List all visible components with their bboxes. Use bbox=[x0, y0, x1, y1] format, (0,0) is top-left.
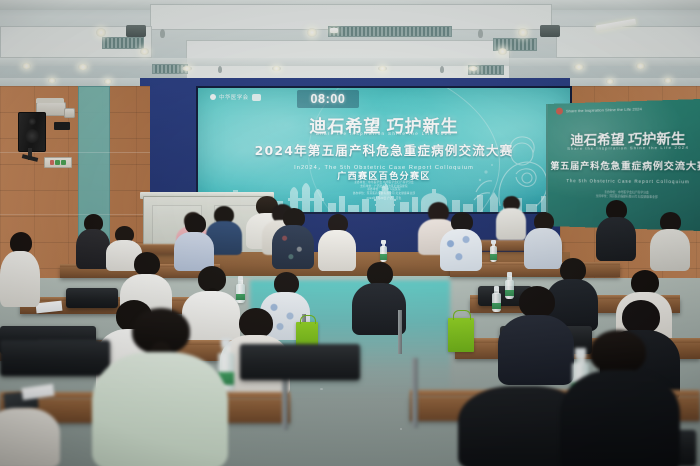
emergency-exit-sign bbox=[44, 157, 72, 168]
downlight bbox=[574, 64, 584, 70]
clock-time: 08:00 bbox=[311, 92, 346, 106]
attendee bbox=[0, 232, 40, 306]
organizer-logo: 中华医学会 bbox=[210, 93, 261, 101]
sprinkler-head bbox=[160, 29, 165, 38]
downlight bbox=[104, 79, 112, 84]
attendee bbox=[76, 214, 110, 268]
attendee-foreground bbox=[560, 330, 680, 466]
downlight bbox=[182, 66, 192, 71]
downlight bbox=[22, 63, 31, 69]
downlight bbox=[636, 63, 645, 69]
attendee bbox=[272, 208, 314, 268]
ceiling-projector bbox=[540, 25, 560, 37]
banner-brush-en: Share the Inspiration Shine the Life 202… bbox=[548, 144, 700, 151]
sprinkler-head bbox=[478, 29, 483, 38]
downlight bbox=[96, 28, 106, 37]
attendee bbox=[318, 214, 356, 270]
sprinkler-head bbox=[218, 66, 222, 73]
bottled-water bbox=[490, 240, 497, 262]
screen-clock: 08:00 bbox=[297, 90, 359, 108]
air-conditioning-vent bbox=[328, 26, 452, 37]
downlight bbox=[498, 48, 507, 55]
attendee bbox=[174, 214, 214, 270]
desk-leg bbox=[398, 310, 402, 354]
downlight bbox=[272, 66, 281, 71]
banner-logo-text: Share the Inspiration Shine the Life 202… bbox=[566, 106, 642, 113]
logo-dot-icon bbox=[210, 94, 216, 100]
downlight bbox=[78, 64, 88, 70]
logo-text: 中华医学会 bbox=[219, 93, 249, 101]
wall-speaker bbox=[18, 112, 46, 152]
attendee-foreground bbox=[92, 308, 228, 466]
bottled-water bbox=[380, 240, 387, 262]
downlight bbox=[48, 78, 56, 83]
sprinkler-head bbox=[440, 66, 444, 73]
downlight bbox=[606, 79, 614, 84]
attendee-torso bbox=[560, 370, 680, 466]
desk-leg bbox=[412, 358, 418, 428]
downlight bbox=[664, 78, 672, 83]
logo-mark-icon bbox=[252, 94, 261, 101]
chair bbox=[240, 344, 360, 380]
conference-room-photo: 中华医学会 08:00 迪石希望 巧护新生 Share the Inspirat… bbox=[0, 0, 700, 466]
attendee bbox=[496, 196, 526, 240]
downlight bbox=[140, 48, 149, 55]
ceiling-strip-light bbox=[330, 28, 338, 33]
attendee bbox=[440, 212, 482, 270]
downlight bbox=[518, 28, 528, 37]
attendee-hair bbox=[590, 330, 646, 374]
downlight bbox=[307, 28, 317, 37]
downlight bbox=[378, 66, 387, 71]
banner-title-en: The 5th Obstetric Case Report Colloquium bbox=[567, 178, 690, 184]
attendee-foreground bbox=[0, 408, 60, 466]
attendee-torso bbox=[92, 352, 228, 466]
attendee bbox=[650, 212, 690, 270]
air-conditioning-vent bbox=[102, 37, 144, 49]
attendee bbox=[596, 200, 636, 260]
ceiling-projector bbox=[126, 25, 146, 37]
downlight bbox=[468, 66, 478, 71]
conference-tote-bag bbox=[448, 318, 474, 352]
wall-outlet-plate bbox=[64, 108, 75, 118]
wall-bracket bbox=[54, 122, 70, 130]
